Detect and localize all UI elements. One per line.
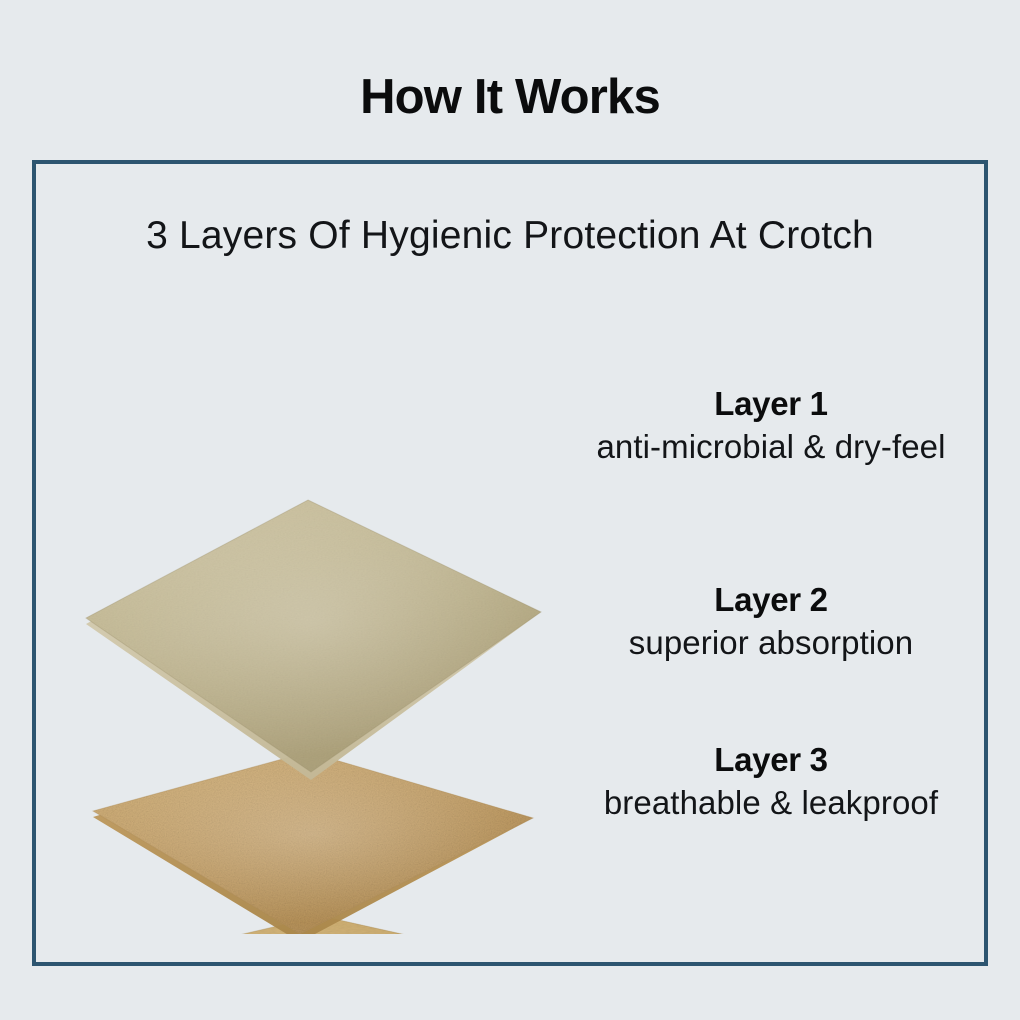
- layer-2-callout: Layer 2 superior absorption: [536, 582, 1006, 663]
- layer-2-sheet: [93, 752, 533, 934]
- page-title: How It Works: [0, 73, 1020, 122]
- layer-3-title: Layer 3: [536, 742, 1006, 779]
- layer-1-description: anti-microbial & dry-feel: [536, 427, 1006, 467]
- layer-1-title: Layer 1: [536, 386, 1006, 423]
- layer-2-description: superior absorption: [536, 623, 1006, 663]
- panel-subtitle: 3 Layers Of Hygienic Protection At Crotc…: [36, 216, 984, 255]
- layer-3-callout: Layer 3 breathable & leakproof: [536, 742, 1006, 823]
- layers-svg: [56, 314, 576, 934]
- infographic-root: How It Works 3 Layers Of Hygienic Protec…: [0, 0, 1020, 1020]
- content-panel: 3 Layers Of Hygienic Protection At Crotc…: [32, 160, 988, 966]
- layer-1-callout: Layer 1 anti-microbial & dry-feel: [536, 386, 1006, 467]
- layer-3-description: breathable & leakproof: [536, 783, 1006, 823]
- layer-2-title: Layer 2: [536, 582, 1006, 619]
- exploded-layers-graphic: [56, 314, 576, 934]
- layer-1-sheet: [86, 500, 541, 780]
